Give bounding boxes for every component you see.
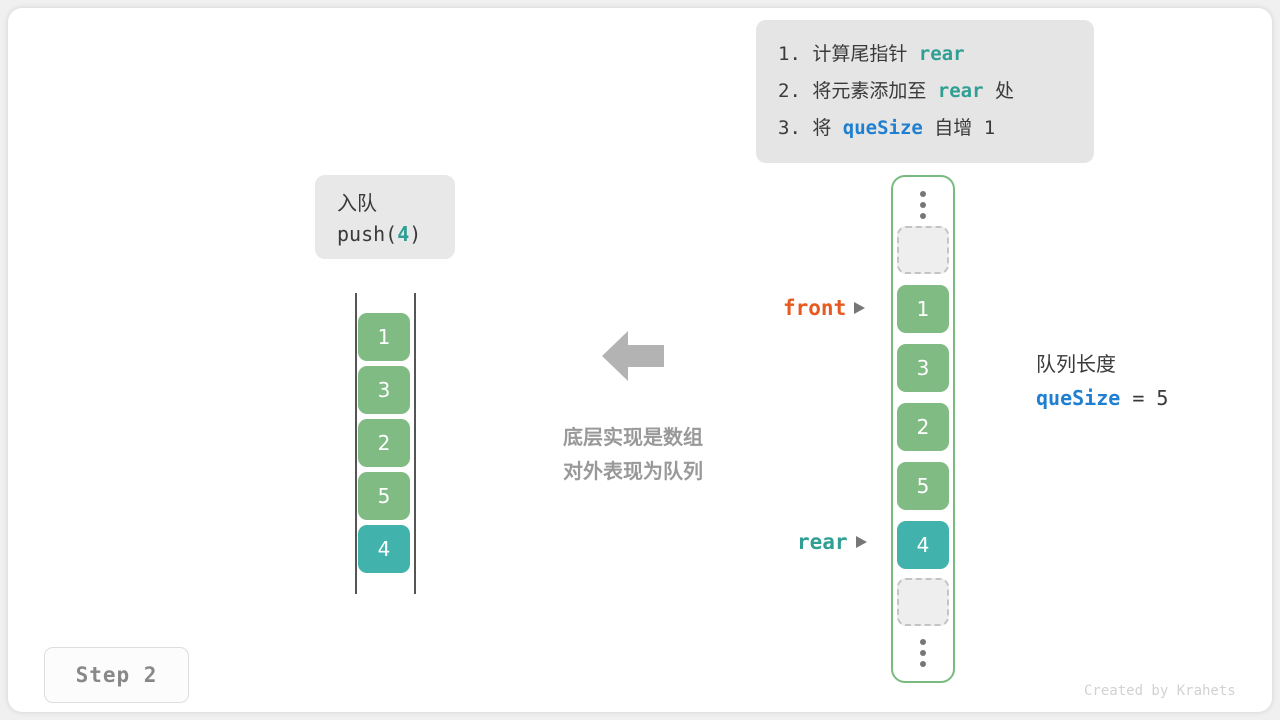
instruction-token: queSize: [843, 117, 923, 139]
left-arrow-icon: [602, 328, 664, 384]
push-call-value: 4: [397, 222, 409, 246]
instruction-panel: 1. 计算尾指针 rear 2. 将元素添加至 rear 处 3. 将 queS…: [756, 20, 1094, 163]
instruction-token: 处: [984, 80, 1014, 102]
array-cell: 3: [897, 344, 949, 392]
queue-size-title: 队列长度: [1036, 349, 1168, 380]
front-pointer-arrow-icon: [854, 302, 865, 314]
queue-size-note: 队列长度 queSize = 5: [1036, 349, 1168, 416]
instruction-token: rear: [938, 80, 984, 102]
array-container: 13254: [891, 175, 955, 683]
instruction-token: 2. 将元素添加至: [778, 80, 938, 102]
queue-cell: 3: [358, 366, 410, 414]
queue-size-var: queSize: [1036, 386, 1120, 410]
queue-size-equals: =: [1120, 386, 1156, 410]
queue-cell: 1: [358, 313, 410, 361]
queue-cell: 4: [358, 525, 410, 573]
rear-pointer: rear: [797, 530, 867, 554]
push-call-prefix: push(: [337, 222, 397, 246]
front-pointer: front: [783, 296, 865, 320]
caption-line-2: 对外表现为队列: [508, 454, 758, 488]
instruction-line-2: 2. 将元素添加至 rear 处: [778, 73, 1072, 110]
push-call: push(4): [337, 219, 455, 250]
credit-text: Created by Krahets: [1084, 683, 1236, 699]
ellipsis-bottom-icon: [920, 639, 926, 667]
instruction-token: 1. 计算尾指针: [778, 43, 919, 65]
page-background: 1. 计算尾指针 rear 2. 将元素添加至 rear 处 3. 将 queS…: [0, 0, 1280, 720]
queue-rail-right: [414, 293, 416, 594]
instruction-token: 3. 将: [778, 117, 843, 139]
rear-pointer-arrow-icon: [856, 536, 867, 548]
queue-cell: 5: [358, 472, 410, 520]
front-pointer-label: front: [783, 296, 846, 320]
push-operation-box: 入队 push(4): [315, 175, 455, 259]
instruction-line-1: 1. 计算尾指针 rear: [778, 36, 1072, 73]
step-badge: Step 2: [44, 647, 189, 703]
queue-size-expression: queSize = 5: [1036, 380, 1168, 416]
diagram-caption: 底层实现是数组 对外表现为队列: [508, 420, 758, 488]
array-cell: 1: [897, 285, 949, 333]
diagram-card: 1. 计算尾指针 rear 2. 将元素添加至 rear 处 3. 将 queS…: [8, 8, 1272, 712]
queue-cell: 2: [358, 419, 410, 467]
queue-rail-left: [355, 293, 357, 594]
rear-pointer-label: rear: [797, 530, 848, 554]
caption-line-1: 底层实现是数组: [508, 420, 758, 454]
array-cell: 4: [897, 521, 949, 569]
array-empty-cell-top: [897, 226, 949, 274]
array-empty-cell-bottom: [897, 578, 949, 626]
instruction-token: 自增 1: [923, 117, 995, 139]
queue-size-value: 5: [1156, 386, 1168, 410]
array-cell: 5: [897, 462, 949, 510]
instruction-line-3: 3. 将 queSize 自增 1: [778, 110, 1072, 147]
array-cell: 2: [897, 403, 949, 451]
instruction-token: rear: [919, 43, 965, 65]
step-badge-label: Step 2: [76, 663, 158, 687]
push-call-suffix: ): [409, 222, 421, 246]
ellipsis-top-icon: [920, 191, 926, 219]
push-title: 入队: [337, 188, 455, 219]
